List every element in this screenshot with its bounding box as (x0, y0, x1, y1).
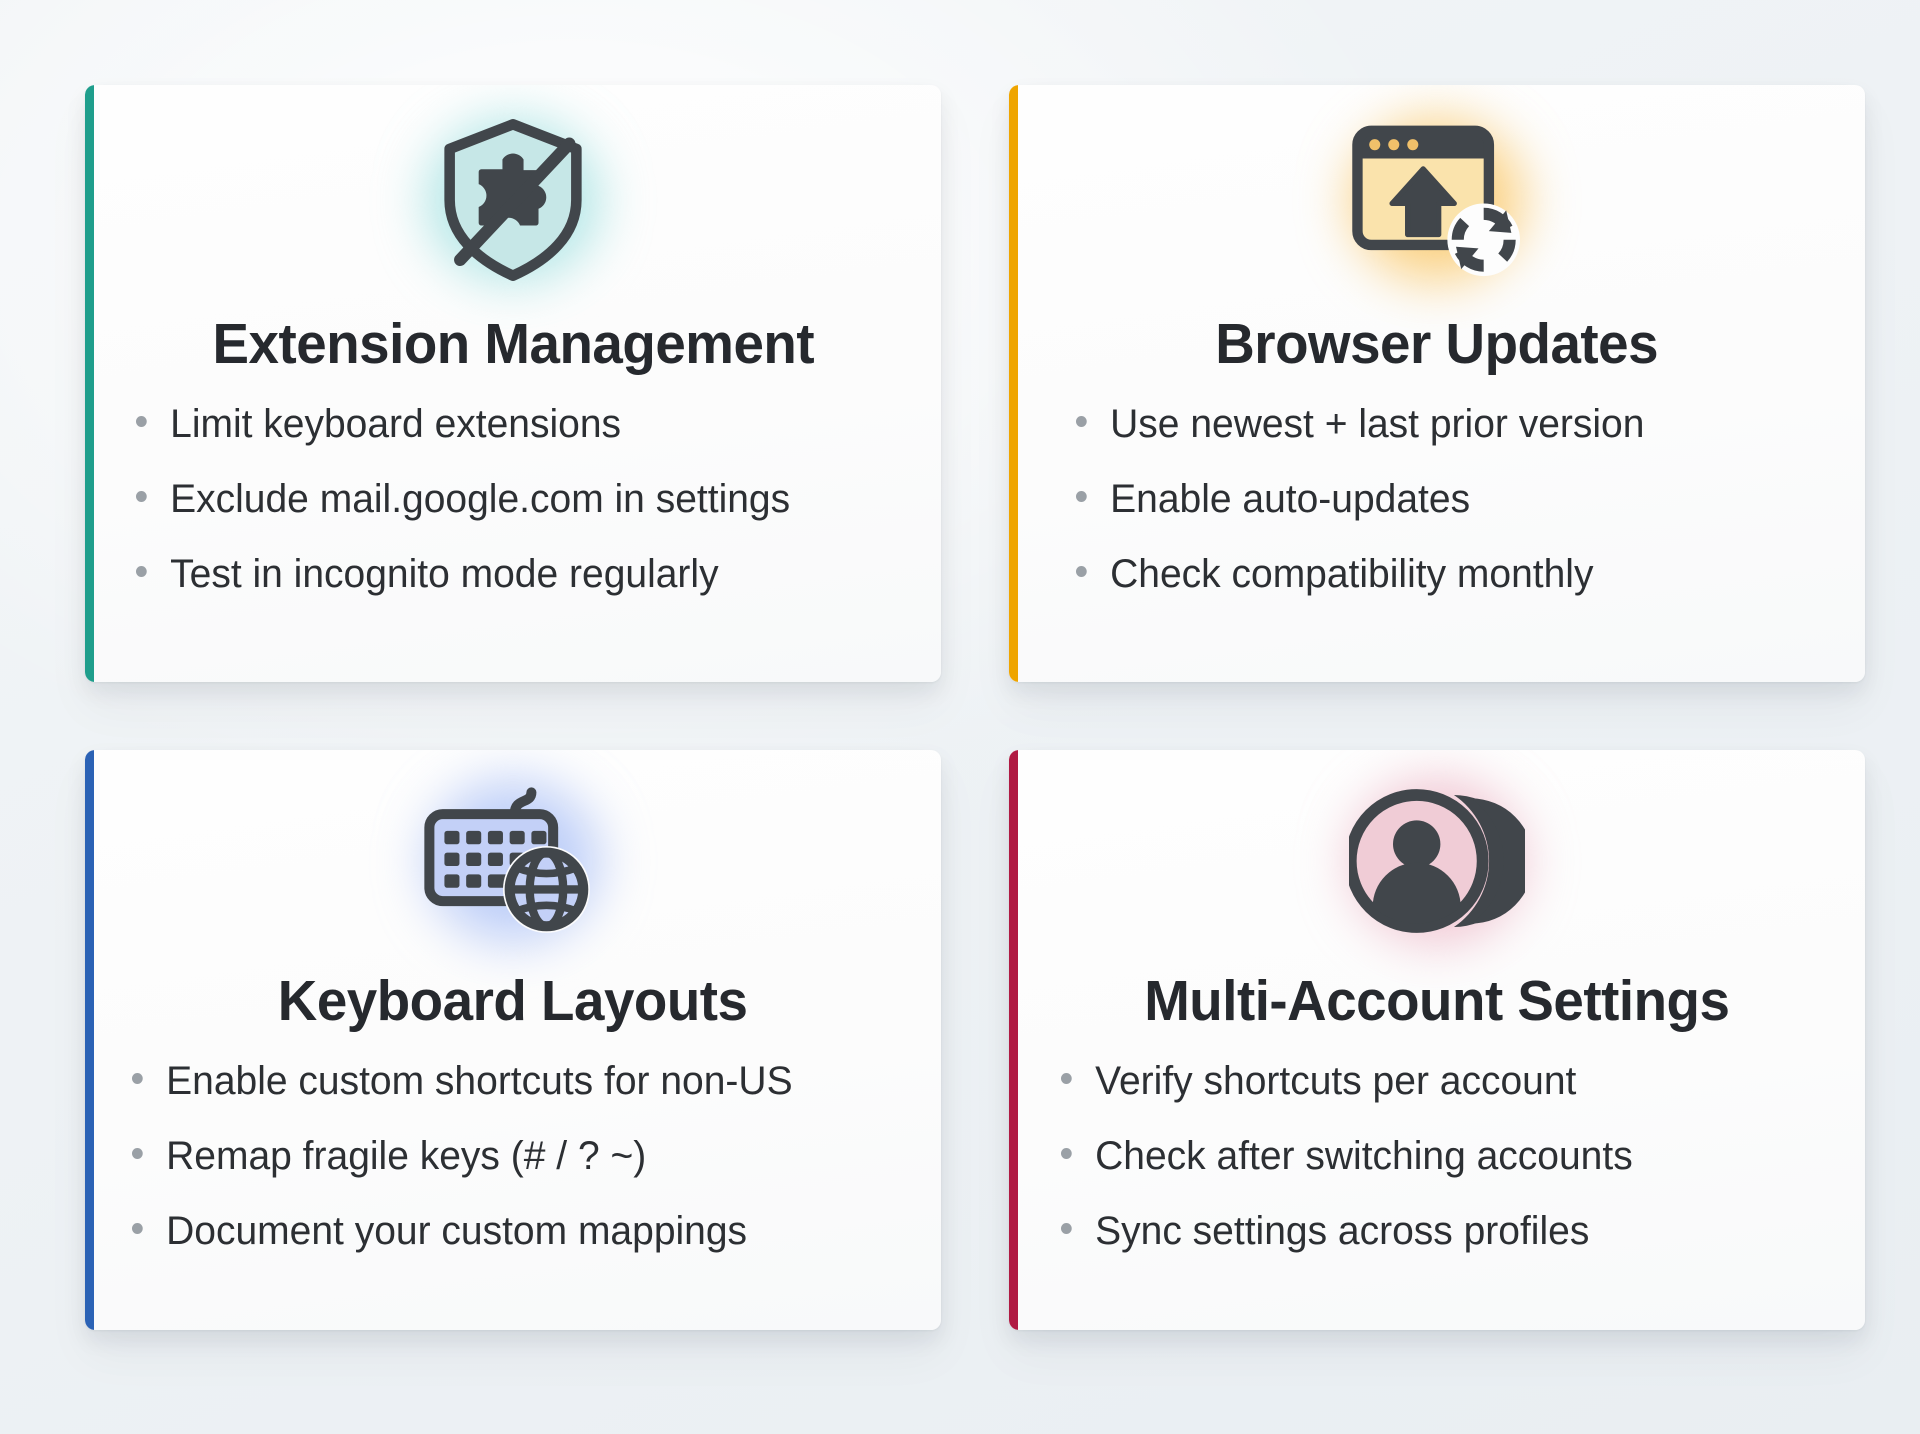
list-item: Use newest + last prior version (1076, 404, 1821, 479)
card-keyboard-layouts[interactable]: Keyboard Layouts Enable custom shortcuts… (85, 750, 941, 1330)
bullet-dot-icon (136, 491, 147, 502)
list-item: Enable custom shortcuts for non-US (132, 1061, 877, 1136)
card-icon-area (131, 85, 895, 315)
card-icon-area (1055, 750, 1819, 972)
bullet-text: Check after switching accounts (1095, 1136, 1633, 1176)
bullet-dot-icon (132, 1148, 143, 1159)
browser-window-upload-refresh-icon (1342, 110, 1532, 290)
list-item: Test in incognito mode regularly (136, 554, 881, 594)
list-item: Enable auto-updates (1076, 479, 1821, 554)
list-item: Check compatibility monthly (1076, 554, 1821, 594)
bullet-dot-icon (1061, 1073, 1072, 1084)
bullet-dot-icon (1076, 491, 1087, 502)
bullet-dot-icon (132, 1223, 143, 1234)
accent-bar-multi-account-settings (1009, 750, 1018, 1330)
bullet-list: Enable custom shortcuts for non-US Remap… (130, 1039, 896, 1251)
bullet-dot-icon (136, 566, 147, 577)
stacked-user-accounts-icon (1342, 771, 1532, 951)
list-item: Verify shortcuts per account (1061, 1061, 1806, 1136)
bullet-text: Sync settings across profiles (1095, 1211, 1589, 1251)
card-icon-area (131, 750, 895, 972)
bullet-text: Enable custom shortcuts for non-US (166, 1061, 792, 1101)
bullet-text: Check compatibility monthly (1110, 554, 1593, 594)
bullet-list: Verify shortcuts per account Check after… (1049, 1039, 1825, 1251)
bullet-dot-icon (1076, 416, 1087, 427)
list-item: Sync settings across profiles (1061, 1211, 1806, 1251)
bullet-text: Enable auto-updates (1110, 479, 1470, 519)
card-title: Browser Updates (1216, 315, 1659, 374)
card-multi-account-settings[interactable]: Multi-Account Settings Verify shortcuts … (1009, 750, 1865, 1330)
card-extension-management[interactable]: Extension Management Limit keyboard exte… (85, 85, 941, 682)
list-item: Limit keyboard extensions (136, 404, 881, 479)
card-title: Multi-Account Settings (1144, 972, 1729, 1031)
bullet-dot-icon (136, 416, 147, 427)
card-browser-updates[interactable]: Browser Updates Use newest + last prior … (1009, 85, 1865, 682)
accent-bar-keyboard-layouts (85, 750, 94, 1330)
bullet-text: Limit keyboard extensions (170, 404, 621, 444)
card-title: Extension Management (212, 315, 814, 374)
bullet-text: Use newest + last prior version (1110, 404, 1644, 444)
bullet-dot-icon (1061, 1148, 1072, 1159)
bullet-dot-icon (1076, 566, 1087, 577)
bullet-text: Remap fragile keys (# / ? ~) (166, 1136, 646, 1176)
keyboard-globe-icon (418, 771, 608, 951)
list-item: Remap fragile keys (# / ? ~) (132, 1136, 877, 1211)
bullet-list: Use newest + last prior version Enable a… (1034, 382, 1840, 594)
shield-puzzle-blocked-icon (418, 110, 608, 290)
bullet-text: Verify shortcuts per account (1095, 1061, 1576, 1101)
bullet-text: Test in incognito mode regularly (170, 554, 718, 594)
bullet-text: Exclude mail.google.com in settings (170, 479, 790, 519)
list-item: Check after switching accounts (1061, 1136, 1806, 1211)
bullet-text: Document your custom mappings (166, 1211, 747, 1251)
bullet-dot-icon (1061, 1223, 1072, 1234)
bullet-dot-icon (132, 1073, 143, 1084)
bullet-list: Limit keyboard extensions Exclude mail.g… (126, 382, 900, 594)
card-title: Keyboard Layouts (278, 972, 748, 1031)
accent-bar-extension-management (85, 85, 94, 682)
accent-bar-browser-updates (1009, 85, 1018, 682)
list-item: Exclude mail.google.com in settings (136, 479, 881, 554)
card-icon-area (1055, 85, 1819, 315)
card-grid: Extension Management Limit keyboard exte… (0, 0, 1920, 1434)
list-item: Document your custom mappings (132, 1211, 877, 1251)
